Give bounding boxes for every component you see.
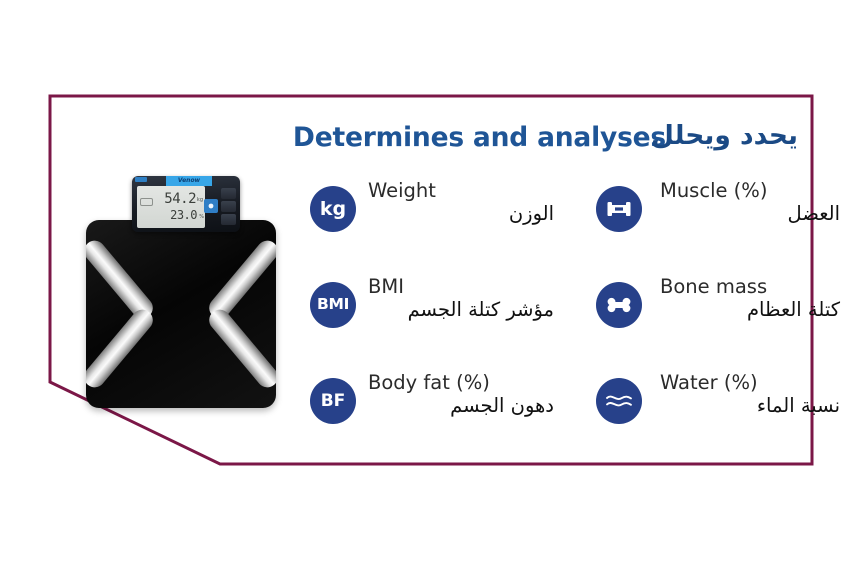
body-composition-scale-image: Venow 54.2 kg 23.0 % (80, 176, 290, 416)
metric-bmi-label-ar: مؤشر كتلة الجسم (368, 298, 558, 322)
water-waves-icon (596, 378, 642, 424)
metric-weight-labels: Weight الوزن (368, 180, 558, 226)
metric-water-label-en: Water (%) (654, 372, 842, 394)
metric-body-fat: BF Body fat (%) دهون الجسم (310, 372, 560, 468)
bone-icon (596, 282, 642, 328)
metric-body-fat-label-en: Body fat (%) (368, 372, 558, 394)
metric-bone-mass: Bone mass كتلة العظام (596, 276, 844, 372)
scale-up-button[interactable] (221, 188, 236, 199)
scale-set-button[interactable] (204, 199, 218, 213)
scale-down-button[interactable] (221, 214, 236, 225)
lcd-screen: 54.2 kg 23.0 % (137, 186, 205, 228)
bmi-text-icon: BMI (310, 282, 356, 328)
metric-body-fat-label-ar: دهون الجسم (368, 394, 558, 418)
page-title-en: Determines and analyses (293, 122, 666, 153)
metric-weight-label-en: Weight (368, 180, 558, 202)
metric-list-left: kg Weight الوزن BMI BMI مؤشر كتلة الجسم … (310, 180, 560, 468)
lcd-mode-indicator (140, 198, 153, 206)
lcd-body-fat-unit: % (199, 214, 204, 220)
metric-bone-mass-label-ar: كتلة العظام (654, 298, 842, 322)
metric-weight: kg Weight الوزن (310, 180, 560, 276)
info-panel: Determines and analyses يحدد ويحلل kg We… (48, 94, 814, 466)
scale-mode-button[interactable] (221, 201, 236, 212)
metric-water-label-ar: نسبة الماء (654, 394, 842, 418)
bmi-badge-label: BMI (317, 297, 349, 313)
metric-muscle-label-en: Muscle (%) (654, 180, 842, 202)
lcd-weight-unit: kg (197, 197, 203, 203)
metric-weight-label-ar: الوزن (368, 202, 558, 226)
indicator-chip (135, 177, 147, 182)
metric-list-right: Muscle (%) العضل Bone mass كتلة (596, 180, 844, 468)
page-title-ar: يحدد ويحلل (651, 120, 798, 151)
metric-bmi-labels: BMI مؤشر كتلة الجسم (368, 276, 558, 322)
metric-muscle-label-ar: العضل (654, 202, 842, 226)
lcd-body-fat-value: 23.0 (170, 208, 197, 222)
lcd-weight-value: 54.2 (164, 191, 196, 207)
bf-badge-label: BF (321, 393, 346, 410)
panel-heading: Determines and analyses يحدد ويحلل (278, 122, 798, 166)
metric-bmi: BMI BMI مؤشر كتلة الجسم (310, 276, 560, 372)
dumbbell-icon (596, 186, 642, 232)
metric-bmi-label-en: BMI (368, 276, 558, 298)
metric-muscle-labels: Muscle (%) العضل (654, 180, 842, 226)
electrode-bottom-left (86, 305, 157, 391)
metric-body-fat-labels: Body fat (%) دهون الجسم (368, 372, 558, 418)
scale-platform (86, 220, 276, 408)
kg-text-icon: kg (310, 186, 356, 232)
bf-text-icon: BF (310, 378, 356, 424)
brand-label: Venow (166, 176, 212, 186)
scale-display-unit: Venow 54.2 kg 23.0 % (132, 176, 240, 232)
metric-bone-mass-label-en: Bone mass (654, 276, 842, 298)
metric-water: Water (%) نسبة الماء (596, 372, 844, 468)
metric-water-labels: Water (%) نسبة الماء (654, 372, 842, 418)
metric-bone-mass-labels: Bone mass كتلة العظام (654, 276, 842, 322)
kg-badge-label: kg (320, 200, 346, 219)
metric-muscle: Muscle (%) العضل (596, 180, 844, 276)
electrode-bottom-right (205, 305, 276, 391)
